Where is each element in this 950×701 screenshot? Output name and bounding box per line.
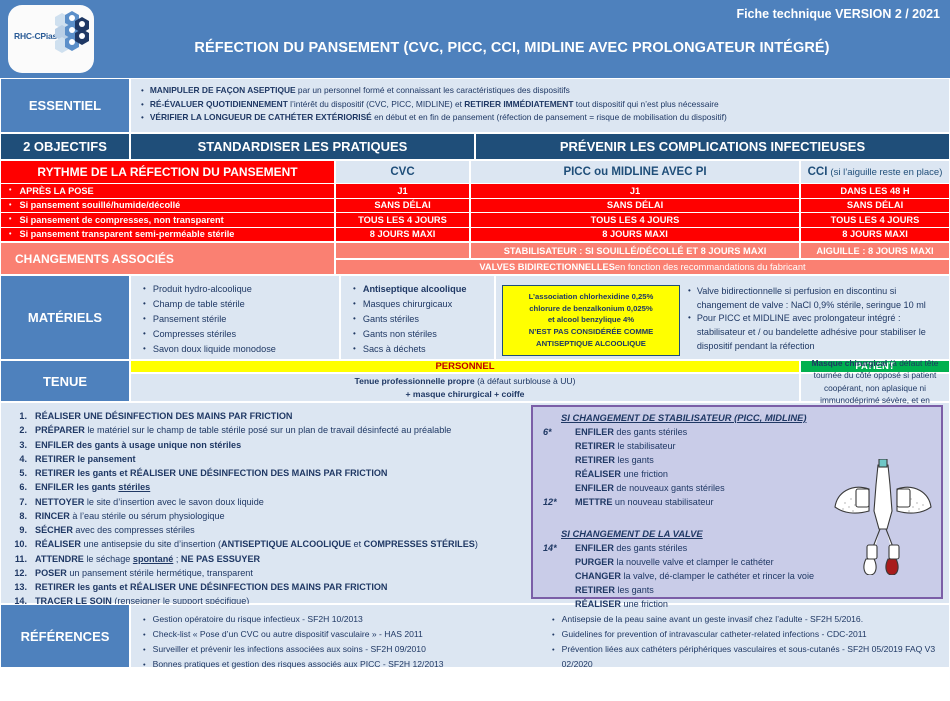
list-item: •Champ de table stérile	[143, 297, 335, 312]
rhythm-cell-cvc: SANS DÉLAI	[335, 199, 470, 214]
bullet-icon: •	[353, 282, 356, 297]
essentiel-item: • MANIPULER DE FAÇON ASEPTIQUE par un pe…	[141, 84, 943, 98]
materiels-column-3: L’association chlorhexidine 0,25% chloru…	[495, 275, 950, 360]
tenue-label: TENUE	[0, 360, 130, 402]
rhythm-row-label: •APRÈS LA POSE	[0, 184, 335, 199]
table-row: •APRÈS LA POSE J1 J1 DANS LES 48 H	[0, 184, 950, 199]
logo: RHC-CPias	[8, 5, 94, 73]
warning-line: L’association chlorhexidine 0,25%	[507, 291, 675, 303]
tenue-patient-content: Masque chirurgical (à défaut tête tourné…	[800, 373, 950, 402]
rhythm-col-cci-note: (si l’aiguille reste en place)	[830, 167, 942, 178]
bullet-icon: •	[143, 342, 146, 357]
rhythm-cell-cci: SANS DÉLAI	[800, 199, 950, 214]
list-item: •Gants stériles	[353, 312, 490, 327]
valves-rest: en fonction des recommandations du fabri…	[615, 262, 806, 272]
bullet-icon: •	[143, 657, 146, 672]
warning-line: N’EST PAS CONSIDÉRÉE COMME	[507, 326, 675, 338]
list-item: •Savon doux liquide monodose	[143, 342, 335, 357]
essentiel-label: ESSENTIEL	[0, 78, 130, 133]
list-item: RETIRER le stabilisateur	[543, 439, 935, 453]
list-item: •Compresses stériles	[143, 327, 335, 342]
rhythm-col-cci-text: CCI	[808, 166, 828, 178]
rhythm-row-label: •Si pansement transparent semi-perméable…	[0, 228, 335, 243]
list-item: •Masques chirurgicaux	[353, 297, 490, 312]
list-item: 6.ENFILER les gants stériles	[7, 480, 527, 494]
rhythm-col-cci: CCI (si l’aiguille reste en place)	[800, 160, 950, 184]
rhythm-header-label: RYTHME DE LA RÉFECTION DU PANSEMENT	[0, 160, 335, 184]
bullet-icon: •	[143, 282, 146, 297]
tenue-personnel-line-1: Tenue professionnelle propre (à défaut s…	[355, 375, 576, 388]
bullet-icon: •	[688, 285, 691, 312]
bullet-icon: •	[552, 612, 555, 627]
rhythm-table: RYTHME DE LA RÉFECTION DU PANSEMENT CVC …	[0, 160, 950, 275]
special-cases-box: SI CHANGEMENT DE STABILISATEUR (PICC, MI…	[531, 405, 943, 599]
procedure-steps-list: 1.RÉALISER UNE DÉSINFECTION DES MAINS PA…	[1, 403, 531, 603]
rhythm-row-label: •Si pansement de compresses, non transpa…	[0, 213, 335, 228]
bullet-icon: •	[143, 327, 146, 342]
list-item: 6*ENFILER des gants stériles	[543, 425, 935, 439]
list-item: 1.RÉALISER UNE DÉSINFECTION DES MAINS PA…	[7, 409, 527, 423]
tenue-row: TENUE PERSONNEL PATIENT Tenue profession…	[0, 360, 950, 402]
references-column-right: •Antisepsie de la peau saine avant un ge…	[538, 612, 947, 667]
version-label: Fiche technique VERSION 2 / 2021	[736, 7, 940, 21]
list-item: •Produit hydro-alcoolique	[143, 282, 335, 297]
rhythm-col-picc: PICC ou MIDLINE AVEC PI	[470, 160, 800, 184]
warning-line: et alcool benzylique 4%	[507, 314, 675, 326]
list-item: 13.RETIRER les gants et RÉALISER UNE DÉS…	[7, 580, 527, 594]
references-label: RÉFÉRENCES	[0, 604, 130, 668]
changements-associes-row: CHANGEMENTS ASSOCIÉS STABILISATEUR : SI …	[0, 242, 950, 275]
materiels-row: MATÉRIELS •Produit hydro-alcoolique •Cha…	[0, 275, 950, 360]
bullet-icon: •	[9, 187, 11, 194]
list-item: RETIRER les gants	[543, 583, 935, 597]
list-item: 11.ATTENDRE le séchage spontané ; NE PAS…	[7, 552, 527, 566]
table-row: •Si pansement de compresses, non transpa…	[0, 213, 950, 228]
essentiel-item: • RÉ-ÉVALUER QUOTIDIENNEMENT l’intérêt d…	[141, 98, 943, 112]
bullet-icon: •	[141, 111, 144, 125]
antiseptic-warning-box: L’association chlorhexidine 0,25% chloru…	[502, 285, 680, 356]
changements-cell-cci: AIGUILLE : 8 JOURS MAXI	[800, 242, 950, 259]
tenue-body: Tenue professionnelle propre (à défaut s…	[130, 373, 950, 402]
procedure-area: 1.RÉALISER UNE DÉSINFECTION DES MAINS PA…	[0, 402, 950, 604]
list-item: RÉALISER une friction	[543, 597, 935, 611]
list-item: •Antisepsie de la peau saine avant un ge…	[552, 612, 947, 627]
bullet-icon: •	[9, 231, 11, 238]
materiels-label: MATÉRIELS	[0, 275, 130, 360]
list-item: •Gestion opératoire du risque infectieux…	[143, 612, 538, 627]
list-item: 7.NETTOYER le site d’insertion avec le s…	[7, 495, 527, 509]
list-item: 12.POSER un pansement stérile hermétique…	[7, 566, 527, 580]
bullet-icon: •	[552, 627, 555, 642]
rhythm-col-cvc: CVC	[335, 160, 470, 184]
materiels-column-1: •Produit hydro-alcoolique •Champ de tabl…	[130, 275, 340, 360]
essentiel-item-text: MANIPULER DE FAÇON ASEPTIQUE par un pers…	[150, 84, 570, 98]
list-item: 9.SÉCHER avec des compresses stériles	[7, 523, 527, 537]
bullet-icon: •	[143, 627, 146, 642]
rhythm-table-header: RYTHME DE LA RÉFECTION DU PANSEMENT CVC …	[0, 160, 950, 184]
tenue-personnel-header: PERSONNEL	[130, 360, 800, 373]
logo-label: RHC-CPias	[14, 31, 57, 41]
list-item: •Antiseptique alcoolique	[353, 282, 490, 297]
rhythm-cell-cvc: TOUS LES 4 JOURS	[335, 213, 470, 228]
catheter-stabilizer-illustration-icon	[829, 459, 937, 575]
essentiel-item: • VÉRIFIER LA LONGUEUR DE CATHÉTER EXTÉR…	[141, 111, 943, 125]
rhythm-cell-cci: 8 JOURS MAXI	[800, 228, 950, 243]
bullet-icon: •	[143, 642, 146, 657]
bullet-icon: •	[143, 612, 146, 627]
bullet-icon: •	[353, 312, 356, 327]
rhythm-cell-picc: TOUS LES 4 JOURS	[470, 213, 800, 228]
objectifs-label: 2 OBJECTIFS	[0, 133, 130, 160]
bullet-icon: •	[353, 342, 356, 357]
tenue-personnel-line-2: + masque chirurgical + coiffe	[406, 388, 525, 401]
bullet-icon: •	[9, 202, 11, 209]
valves-strong: VALVES BIDIRECTIONNELLES	[479, 262, 615, 272]
references-column-left: •Gestion opératoire du risque infectieux…	[143, 612, 538, 667]
bullet-icon: •	[688, 312, 691, 353]
objectif-prevenir: PRÉVENIR LES COMPLICATIONS INFECTIEUSES	[475, 133, 950, 160]
bullet-icon: •	[143, 312, 146, 327]
rhythm-cell-cci: TOUS LES 4 JOURS	[800, 213, 950, 228]
rhythm-cell-picc: SANS DÉLAI	[470, 199, 800, 214]
tenue-personnel-content: Tenue professionnelle propre (à défaut s…	[130, 373, 800, 402]
table-row: •Si pansement souillé/humide/décollé SAN…	[0, 199, 950, 214]
objectifs-row: 2 OBJECTIFS STANDARDISER LES PRATIQUES P…	[0, 133, 950, 160]
page-header: RHC-CPias RÉFECT	[0, 0, 950, 78]
bullet-icon: •	[552, 642, 555, 672]
changements-cell-cvc	[335, 242, 470, 259]
references-content: •Gestion opératoire du risque infectieux…	[130, 604, 950, 668]
references-row: RÉFÉRENCES •Gestion opératoire du risque…	[0, 604, 950, 668]
warning-line: chlorure de benzalkonium 0,025%	[507, 303, 675, 315]
rhythm-cell-cci: DANS LES 48 H	[800, 184, 950, 199]
essentiel-item-text: RÉ-ÉVALUER QUOTIDIENNEMENT l’intérêt du …	[150, 98, 719, 112]
rhythm-cell-cvc: J1	[335, 184, 470, 199]
list-item: 4.RETIRER le pansement	[7, 452, 527, 466]
essentiel-item-text: VÉRIFIER LA LONGUEUR DE CATHÉTER EXTÉRIO…	[150, 111, 727, 125]
list-item: •Gants non stériles	[353, 327, 490, 342]
list-item: •Check-list « Pose d’un CVC ou autre dis…	[143, 627, 538, 642]
objectif-standardiser: STANDARDISER LES PRATIQUES	[130, 133, 475, 160]
rhythm-cell-picc: J1	[470, 184, 800, 199]
fiche-technique-sheet: RHC-CPias RÉFECT	[0, 0, 950, 701]
list-item: 5.RETIRER les gants et RÉALISER UNE DÉSI…	[7, 466, 527, 480]
rhythm-row-label: •Si pansement souillé/humide/décollé	[0, 199, 335, 214]
bullet-icon: •	[9, 216, 11, 223]
list-item: •Pour PICC et MIDLINE avec prolongateur …	[688, 312, 945, 353]
page-title: RÉFECTION DU PANSEMENT (CVC, PICC, CCI, …	[94, 22, 950, 56]
list-item: •Surveiller et prévenir les infections a…	[143, 642, 538, 657]
essentiel-row: ESSENTIEL • MANIPULER DE FAÇON ASEPTIQUE…	[0, 78, 950, 133]
list-item: 2.PRÉPARER le matériel sur le champ de t…	[7, 423, 527, 437]
tenue-columns: PERSONNEL PATIENT Tenue professionnelle …	[130, 360, 950, 402]
changements-cell-picc: STABILISATEUR : SI SOUILLÉ/DÉCOLLÉ ET 8 …	[470, 242, 800, 259]
hexagon-logo-icon	[52, 11, 92, 67]
bullet-icon: •	[353, 327, 356, 342]
materiels-column-2: •Antiseptique alcoolique •Masques chirur…	[340, 275, 495, 360]
list-item: 3.ENFILER des gants à usage unique non s…	[7, 438, 527, 452]
bullet-icon: •	[143, 297, 146, 312]
warning-line: ANTISEPTIQUE ALCOOLIQUE	[507, 338, 675, 350]
list-item: •Sacs à déchets	[353, 342, 490, 357]
stabilisateur-title: SI CHANGEMENT DE STABILISATEUR (PICC, MI…	[561, 412, 935, 423]
changements-label: CHANGEMENTS ASSOCIÉS	[0, 242, 335, 275]
list-item: •Bonnes pratiques et gestion des risques…	[143, 657, 538, 672]
essentiel-content: • MANIPULER DE FAÇON ASEPTIQUE par un pe…	[130, 78, 950, 133]
bullet-icon: •	[353, 297, 356, 312]
rhythm-cell-cvc: 8 JOURS MAXI	[335, 228, 470, 243]
list-item: 8.RINCER à l’eau stérile ou sérum physio…	[7, 509, 527, 523]
list-item: 10.RÉALISER une antisepsie du site d’ins…	[7, 537, 527, 551]
list-item: •Valve bidirectionnelle si perfusion en …	[688, 285, 945, 312]
list-item: •Pansement stérile	[143, 312, 335, 327]
list-item: •Prévention liées aux cathéters périphér…	[552, 642, 947, 672]
materiels-notes: •Valve bidirectionnelle si perfusion en …	[688, 282, 945, 353]
list-item: •Guidelines for prevention of intravascu…	[552, 627, 947, 642]
valves-note: VALVES BIDIRECTIONNELLES en fonction des…	[335, 259, 950, 275]
bullet-icon: •	[141, 98, 144, 112]
rhythm-cell-picc: 8 JOURS MAXI	[470, 228, 800, 243]
bullet-icon: •	[141, 84, 144, 98]
table-row: •Si pansement transparent semi-perméable…	[0, 228, 950, 243]
